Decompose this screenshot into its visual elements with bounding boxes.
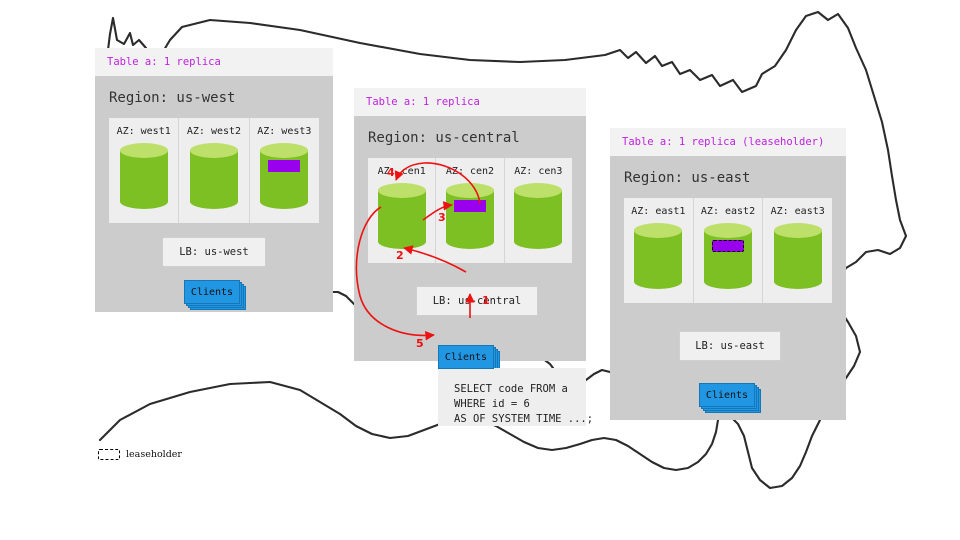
az-cell-west1[interactable]: AZ: west1 xyxy=(109,118,179,223)
cylinder-top xyxy=(260,143,308,158)
load-balancer-us-central[interactable]: LB: us-central xyxy=(416,286,538,316)
load-balancer-us-east[interactable]: LB: us-east xyxy=(679,331,781,361)
az-cell-west3[interactable]: AZ: west3 xyxy=(250,118,319,223)
clients-stack-us-central[interactable]: Clients xyxy=(438,345,498,371)
clients-stack-us-east[interactable]: Clients xyxy=(699,383,759,409)
sql-query-box: SELECT code FROM a WHERE id = 6 AS OF SY… xyxy=(438,368,586,426)
region-panel-us-east: Table a: 1 replica (leaseholder) Region:… xyxy=(610,128,846,420)
az-row-us-central: AZ: cen1 AZ: cen2 xyxy=(368,158,572,263)
node-cylinder-west3[interactable] xyxy=(260,143,308,209)
node-cylinder-east1[interactable] xyxy=(634,223,682,289)
az-label-cen1: AZ: cen1 xyxy=(368,166,435,177)
az-cell-cen3[interactable]: AZ: cen3 xyxy=(505,158,572,263)
cylinder-top xyxy=(378,183,426,198)
az-cell-east3[interactable]: AZ: east3 xyxy=(763,198,832,303)
az-label-west3: AZ: west3 xyxy=(250,126,319,137)
panel-body-us-west: Region: us-west AZ: west1 AZ: west2 xyxy=(95,76,333,312)
leaseholder-range-east2 xyxy=(712,240,744,252)
region-title-us-central: Region: us-central xyxy=(354,116,586,158)
cylinder-top xyxy=(514,183,562,198)
node-cylinder-east2[interactable] xyxy=(704,223,752,289)
step-number-1: 1 xyxy=(482,294,490,307)
node-cylinder-east3[interactable] xyxy=(774,223,822,289)
node-cylinder-cen3[interactable] xyxy=(514,183,562,249)
cylinder-top xyxy=(446,183,494,198)
az-label-east2: AZ: east2 xyxy=(694,206,763,217)
legend-leaseholder: leaseholder xyxy=(98,449,182,460)
panel-body-us-east: Region: us-east AZ: east1 AZ: east2 xyxy=(610,156,846,420)
replica-range-cen2 xyxy=(454,200,486,212)
load-balancer-us-west[interactable]: LB: us-west xyxy=(162,237,266,267)
panel-header-us-west: Table a: 1 replica xyxy=(95,48,333,76)
az-label-east3: AZ: east3 xyxy=(763,206,832,217)
az-row-us-east: AZ: east1 AZ: east2 xyxy=(624,198,832,303)
az-cell-east2[interactable]: AZ: east2 xyxy=(694,198,764,303)
panel-header-us-east: Table a: 1 replica (leaseholder) xyxy=(610,128,846,156)
az-cell-west2[interactable]: AZ: west2 xyxy=(179,118,249,223)
region-panel-us-west: Table a: 1 replica Region: us-west AZ: w… xyxy=(95,48,333,312)
region-title-us-west: Region: us-west xyxy=(95,76,333,118)
node-cylinder-west2[interactable] xyxy=(190,143,238,209)
clients-stack-us-west[interactable]: Clients xyxy=(184,280,244,306)
node-cylinder-cen1[interactable] xyxy=(378,183,426,249)
az-cell-cen1[interactable]: AZ: cen1 xyxy=(368,158,436,263)
node-cylinder-west1[interactable] xyxy=(120,143,168,209)
step-number-2: 2 xyxy=(396,249,404,262)
az-cell-cen2[interactable]: AZ: cen2 xyxy=(436,158,504,263)
az-cell-east1[interactable]: AZ: east1 xyxy=(624,198,694,303)
clients-label-us-east: Clients xyxy=(699,383,755,407)
az-label-cen3: AZ: cen3 xyxy=(505,166,572,177)
clients-label-us-west: Clients xyxy=(184,280,240,304)
cylinder-top xyxy=(190,143,238,158)
cylinder-top xyxy=(120,143,168,158)
panel-header-us-central: Table a: 1 replica xyxy=(354,88,586,116)
node-cylinder-cen2[interactable] xyxy=(446,183,494,249)
az-label-west2: AZ: west2 xyxy=(179,126,248,137)
az-row-us-west: AZ: west1 AZ: west2 AZ xyxy=(109,118,319,223)
region-title-us-east: Region: us-east xyxy=(610,156,846,198)
diagram-canvas: Table a: 1 replica Region: us-west AZ: w… xyxy=(0,0,960,540)
clients-label-us-central: Clients xyxy=(438,345,494,369)
az-label-west1: AZ: west1 xyxy=(109,126,178,137)
cylinder-top xyxy=(634,223,682,238)
legend-label: leaseholder xyxy=(126,449,182,460)
cylinder-top xyxy=(774,223,822,238)
step-number-3: 3 xyxy=(438,211,446,224)
replica-range-west3 xyxy=(268,160,300,172)
dashed-rect-swatch-icon xyxy=(98,449,120,460)
cylinder-top xyxy=(704,223,752,238)
az-label-east1: AZ: east1 xyxy=(624,206,693,217)
panel-body-us-central: Region: us-central AZ: cen1 AZ: cen2 xyxy=(354,116,586,361)
step-number-5: 5 xyxy=(416,337,424,350)
az-label-cen2: AZ: cen2 xyxy=(436,166,503,177)
step-number-4: 4 xyxy=(387,166,395,179)
region-panel-us-central: Table a: 1 replica Region: us-central AZ… xyxy=(354,88,586,361)
